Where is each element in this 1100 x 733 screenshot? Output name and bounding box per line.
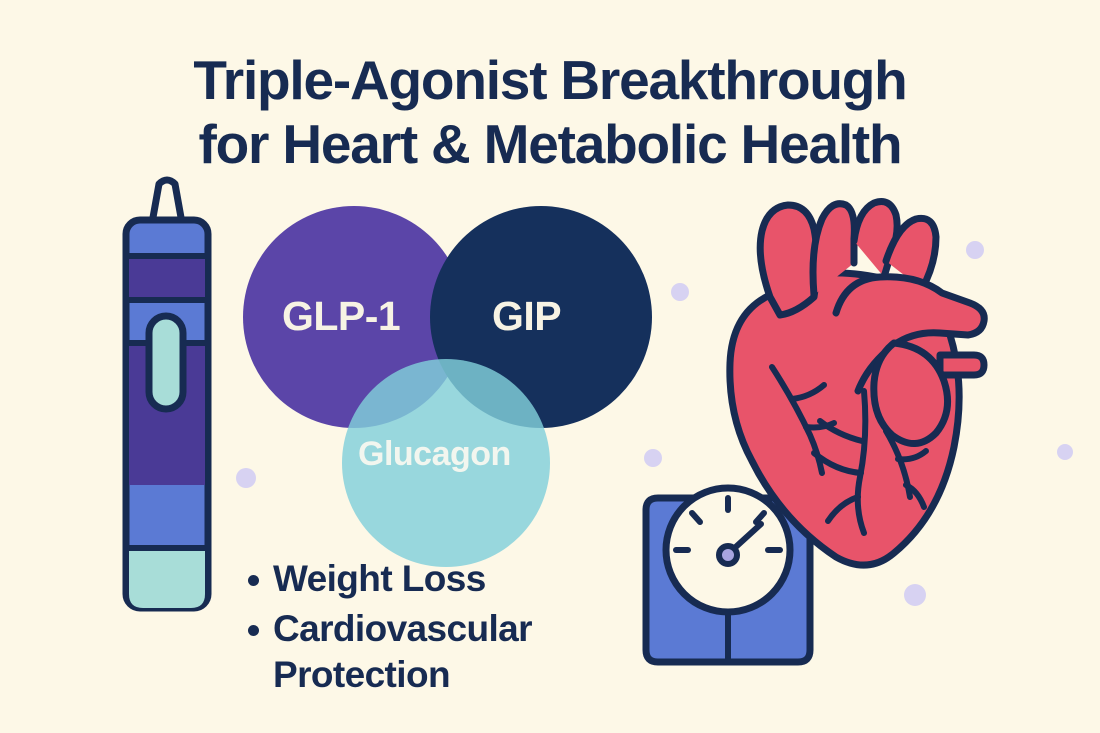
list-item: Weight Loss <box>248 556 638 602</box>
infographic-canvas: Triple-Agonist Breakthrough for Heart & … <box>0 0 1100 733</box>
decor-dot <box>671 283 689 301</box>
decor-dot <box>1057 444 1073 460</box>
pen-band-upper <box>129 256 205 300</box>
venn-diagram: GLP-1 GIP Glucagon <box>230 195 660 565</box>
pen-body <box>126 220 208 608</box>
venn-circle-glucagon[interactable] <box>342 359 550 567</box>
list-item: Cardiovascular Protection <box>248 606 638 698</box>
benefits-list: Weight Loss Cardiovascular Protection <box>248 556 638 702</box>
benefit-label: Weight Loss <box>273 556 486 602</box>
pen-dose-window <box>149 316 183 409</box>
heart-pulmonary-stub <box>940 355 984 375</box>
injection-pen-illustration <box>112 168 222 613</box>
bullet-marker-icon <box>248 575 259 586</box>
heart-aorta-branch-2 <box>854 202 897 278</box>
benefit-label: Cardiovascular Protection <box>273 606 638 698</box>
title-line-1: Triple-Agonist Breakthrough <box>0 48 1100 112</box>
heart-superior-vena-cava <box>760 205 817 315</box>
anatomical-heart-illustration <box>718 185 998 575</box>
bullet-marker-icon <box>248 625 259 636</box>
pen-base <box>129 548 205 608</box>
page-title: Triple-Agonist Breakthrough for Heart & … <box>0 48 1100 176</box>
title-line-2: for Heart & Metabolic Health <box>0 112 1100 176</box>
decor-dot <box>904 584 926 606</box>
